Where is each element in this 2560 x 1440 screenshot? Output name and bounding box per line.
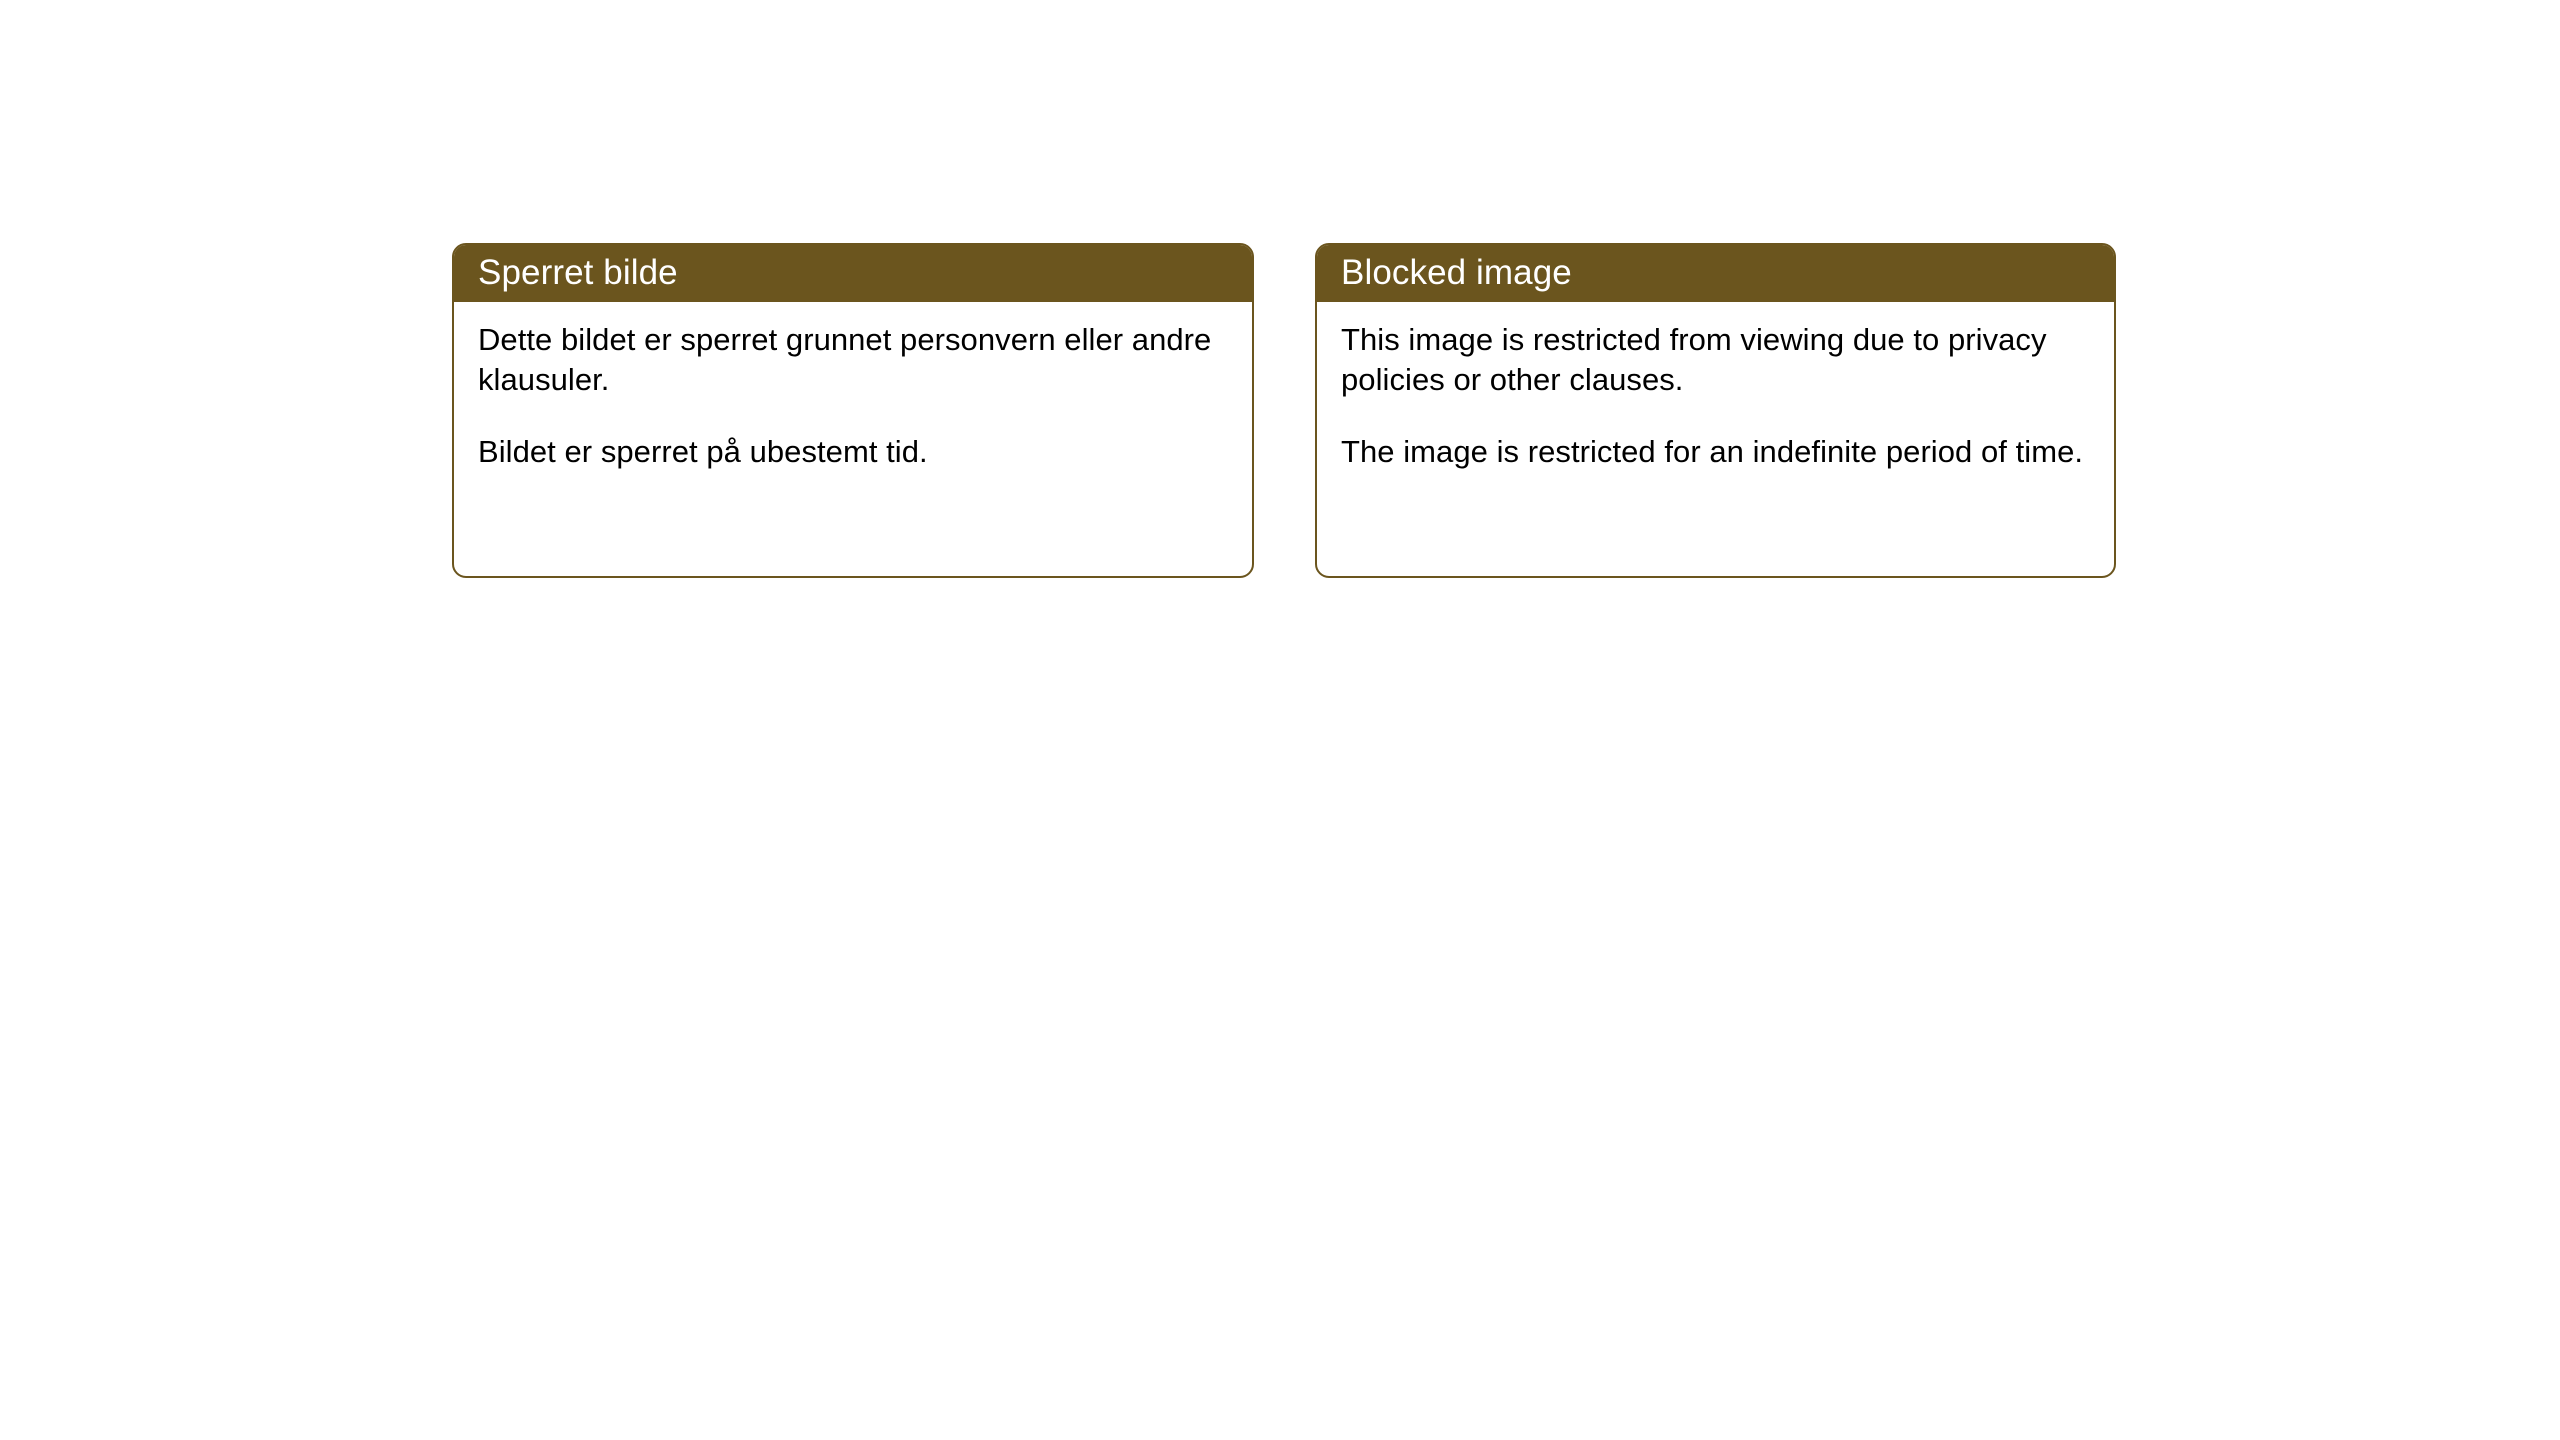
- card-paragraph-en-2: The image is restricted for an indefinit…: [1341, 432, 2094, 472]
- blocked-image-notice-card-no: Sperret bilde Dette bildet er sperret gr…: [452, 243, 1254, 578]
- card-body-no: Dette bildet er sperret grunnet personve…: [454, 302, 1252, 472]
- blocked-image-notice-card-en: Blocked image This image is restricted f…: [1315, 243, 2116, 578]
- card-paragraph-no-2: Bildet er sperret på ubestemt tid.: [478, 432, 1232, 472]
- card-header-en: Blocked image: [1317, 245, 2114, 302]
- card-paragraph-no-1: Dette bildet er sperret grunnet personve…: [478, 320, 1232, 399]
- card-paragraph-en-1: This image is restricted from viewing du…: [1341, 320, 2094, 399]
- card-body-en: This image is restricted from viewing du…: [1317, 302, 2114, 472]
- card-header-no: Sperret bilde: [454, 245, 1252, 302]
- card-title-en: Blocked image: [1341, 255, 1572, 293]
- page-canvas: Sperret bilde Dette bildet er sperret gr…: [0, 0, 2560, 1440]
- card-title-no: Sperret bilde: [478, 255, 678, 293]
